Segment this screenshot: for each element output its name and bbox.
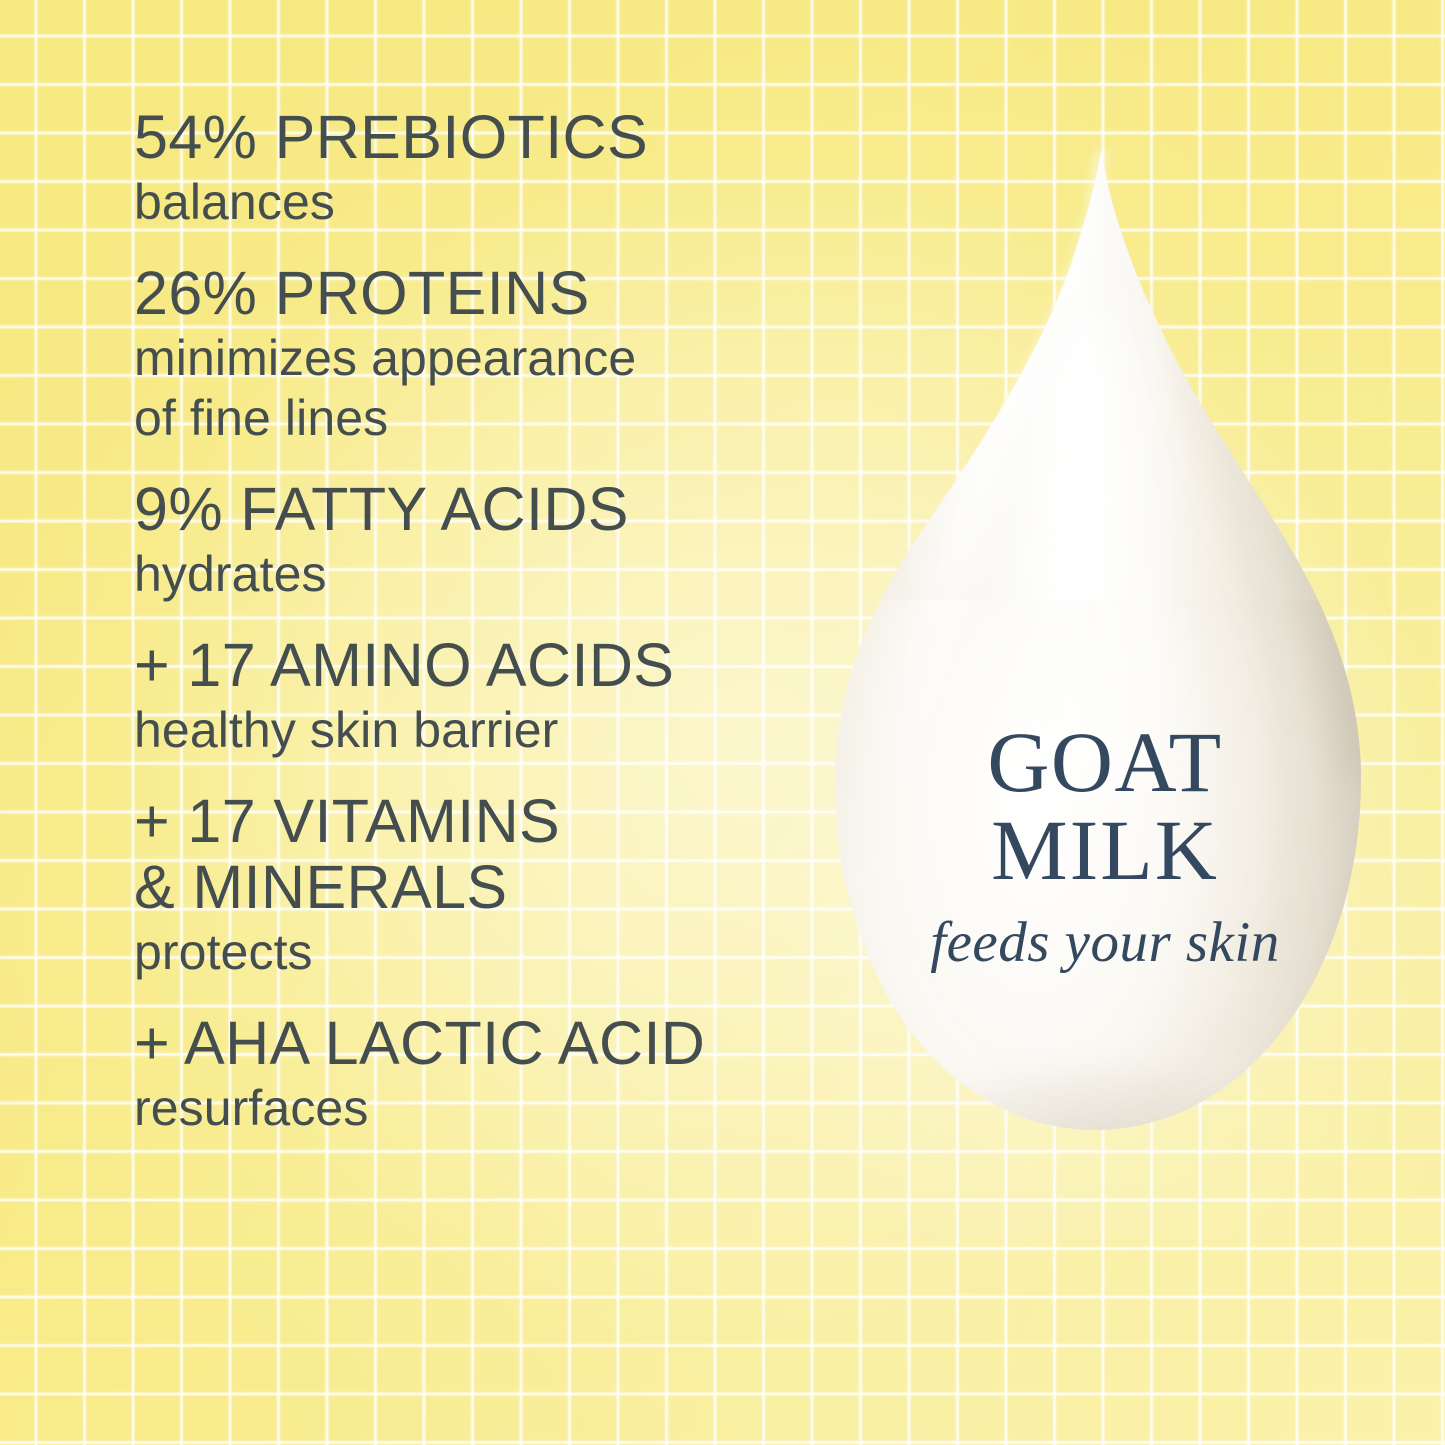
ingredient-title: 9% FATTY ACIDS xyxy=(134,476,834,542)
ingredient-benefit: balances xyxy=(134,172,834,232)
ingredient-item-aha-lactic-acid: + AHA LACTIC ACID resurfaces xyxy=(134,1010,834,1138)
ingredient-benefit: protects xyxy=(134,922,834,982)
ingredient-title: 26% PROTEINS xyxy=(134,260,834,326)
ingredient-list: 54% PREBIOTICS balances 26% PROTEINS min… xyxy=(134,104,834,1138)
ingredient-benefit: minimizes appearance of fine lines xyxy=(134,328,834,448)
ingredient-benefit: resurfaces xyxy=(134,1078,834,1138)
milk-droplet-illustration xyxy=(795,130,1415,1170)
droplet-core-highlight xyxy=(1025,310,1165,810)
ingredient-item-prebiotics: 54% PREBIOTICS balances xyxy=(134,104,834,232)
infographic-canvas: 54% PREBIOTICS balances 26% PROTEINS min… xyxy=(0,0,1445,1445)
milk-droplet-svg xyxy=(795,130,1415,1170)
ingredient-title: 54% PREBIOTICS xyxy=(134,104,834,170)
ingredient-item-fatty-acids: 9% FATTY ACIDS hydrates xyxy=(134,476,834,604)
ingredient-title: + 17 AMINO ACIDS xyxy=(134,632,834,698)
droplet-foot-shading xyxy=(795,890,1415,1170)
ingredient-title: + AHA LACTIC ACID xyxy=(134,1010,834,1076)
ingredient-item-amino-acids: + 17 AMINO ACIDS healthy skin barrier xyxy=(134,632,834,760)
ingredient-benefit: hydrates xyxy=(134,544,834,604)
ingredient-benefit: healthy skin barrier xyxy=(134,700,834,760)
ingredient-title: + 17 VITAMINS & MINERALS xyxy=(134,788,834,920)
ingredient-item-proteins: 26% PROTEINS minimizes appearance of fin… xyxy=(134,260,834,448)
ingredient-item-vitamins-minerals: + 17 VITAMINS & MINERALS protects xyxy=(134,788,834,982)
